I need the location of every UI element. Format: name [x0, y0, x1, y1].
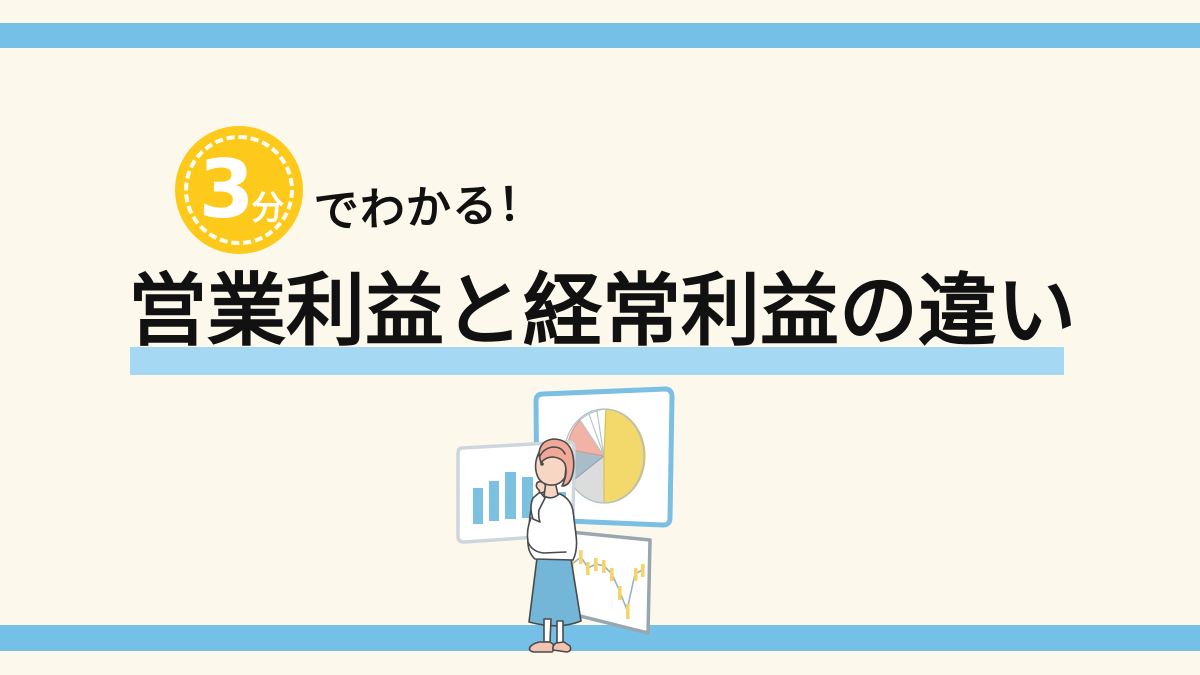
- page-title: 営業利益と経常利益の違い: [128, 272, 1072, 351]
- thumbnail-banner: 3 分 でわかる！ 営業利益と経常利益の違い: [0, 0, 1200, 675]
- minutes-badge: 3 分: [175, 126, 303, 254]
- top-accent-bar: [0, 23, 1200, 48]
- badge-unit: 分: [251, 191, 283, 224]
- badge-text: 3 分: [199, 150, 284, 230]
- pie-graphic: [564, 409, 645, 503]
- badge-number: 3: [199, 150, 254, 230]
- headline-block: 営業利益と経常利益の違い: [128, 272, 1072, 377]
- eyebrow-label: でわかる！: [313, 167, 545, 240]
- eyebrow-row: 3 分 でわかる！: [175, 126, 545, 254]
- person-illustration: [527, 439, 581, 652]
- illustration: [440, 378, 780, 663]
